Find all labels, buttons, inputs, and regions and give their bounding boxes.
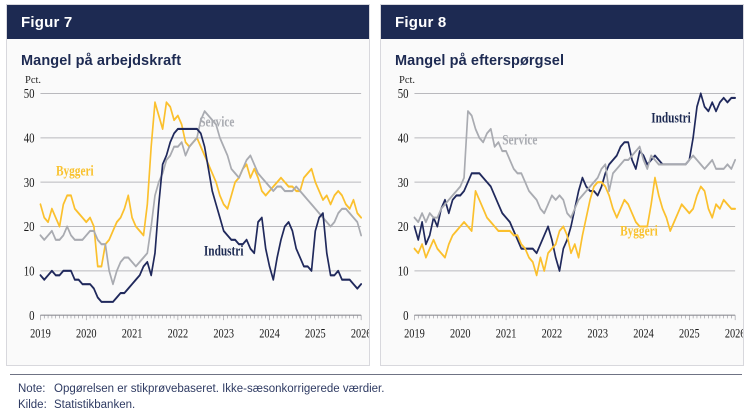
x-axis-tick-label: 2021	[496, 326, 517, 340]
plot-area-figur-7: 0102030405020192020202120222023202420252…	[7, 86, 369, 365]
note-label: Note:	[18, 381, 54, 397]
y-axis-unit-figur-8: Pct.	[381, 69, 743, 86]
panel-header-figur-7: Figur 7	[7, 5, 369, 39]
series-line-industri	[40, 129, 361, 302]
x-axis-tick-label: 2020	[76, 326, 97, 340]
x-axis-tick-label: 2025	[305, 326, 326, 340]
x-axis-tick-label: 2026	[351, 326, 369, 340]
series-annotation-industri: Industri	[204, 243, 244, 259]
y-axis-tick-label: 40	[24, 130, 35, 146]
x-axis-tick-label: 2024	[259, 326, 280, 340]
y-axis-tick-label: 0	[403, 308, 408, 324]
y-axis-tick-label: 50	[24, 86, 35, 102]
series-annotation-industri: Industri	[651, 110, 691, 126]
source-label: Kilde:	[18, 397, 54, 413]
panel-figur-7: Figur 7 Mangel på arbejdskraft Pct. 0102…	[6, 4, 370, 366]
note-text: Opgørelsen er stikprøvebaseret. Ikke-sæs…	[54, 381, 740, 397]
panel-header-figur-8: Figur 8	[381, 5, 743, 39]
chart-svg-figur-7: 0102030405020192020202120222023202420252…	[7, 86, 369, 365]
footer-divider	[10, 374, 742, 375]
x-axis-tick-label: 2021	[122, 326, 143, 340]
source-row: Kilde: Statistikbanken.	[10, 397, 740, 413]
panel-header-label-figur-8: Figur 8	[395, 14, 446, 31]
panel-header-label-figur-7: Figur 7	[21, 14, 72, 31]
panel-title-figur-8: Mangel på efterspørgsel	[381, 39, 743, 69]
panels-container: Figur 7 Mangel på arbejdskraft Pct. 0102…	[0, 0, 750, 366]
x-axis-tick-label: 2026	[725, 326, 743, 340]
y-axis-tick-label: 20	[398, 219, 409, 235]
y-axis-tick-label: 30	[24, 175, 35, 191]
figure-page: Figur 7 Mangel på arbejdskraft Pct. 0102…	[0, 0, 750, 420]
series-annotation-service: Service	[199, 115, 234, 131]
note-row: Note: Opgørelsen er stikprøvebaseret. Ik…	[10, 381, 740, 397]
y-axis-tick-label: 40	[398, 130, 409, 146]
x-axis-tick-label: 2023	[587, 326, 608, 340]
y-axis-tick-label: 50	[398, 86, 409, 102]
series-annotation-byggeri: Byggeri	[620, 223, 658, 239]
panel-figur-8: Figur 8 Mangel på efterspørgsel Pct. 010…	[380, 4, 744, 366]
x-axis-tick-label: 2022	[542, 326, 563, 340]
series-annotation-byggeri: Byggeri	[56, 163, 94, 179]
y-axis-tick-label: 30	[398, 175, 409, 191]
panel-title-figur-7: Mangel på arbejdskraft	[7, 39, 369, 69]
x-axis-tick-label: 2019	[404, 326, 425, 340]
y-axis-tick-label: 10	[398, 263, 409, 279]
x-axis-tick-label: 2020	[450, 326, 471, 340]
x-axis-tick-label: 2022	[168, 326, 189, 340]
plot-area-figur-8: 0102030405020192020202120222023202420252…	[381, 86, 743, 365]
x-axis-tick-label: 2023	[213, 326, 234, 340]
y-axis-tick-label: 0	[29, 308, 34, 324]
y-axis-tick-label: 10	[24, 263, 35, 279]
x-axis-tick-label: 2019	[30, 326, 51, 340]
x-axis-tick-label: 2024	[633, 326, 654, 340]
chart-svg-figur-8: 0102030405020192020202120222023202420252…	[381, 86, 743, 365]
y-axis-unit-figur-7: Pct.	[7, 69, 369, 86]
source-text: Statistikbanken.	[54, 397, 740, 413]
x-axis-tick-label: 2025	[679, 326, 700, 340]
footer: Note: Opgørelsen er stikprøvebaseret. Ik…	[0, 366, 750, 420]
series-annotation-service: Service	[502, 132, 537, 148]
y-axis-tick-label: 20	[24, 219, 35, 235]
